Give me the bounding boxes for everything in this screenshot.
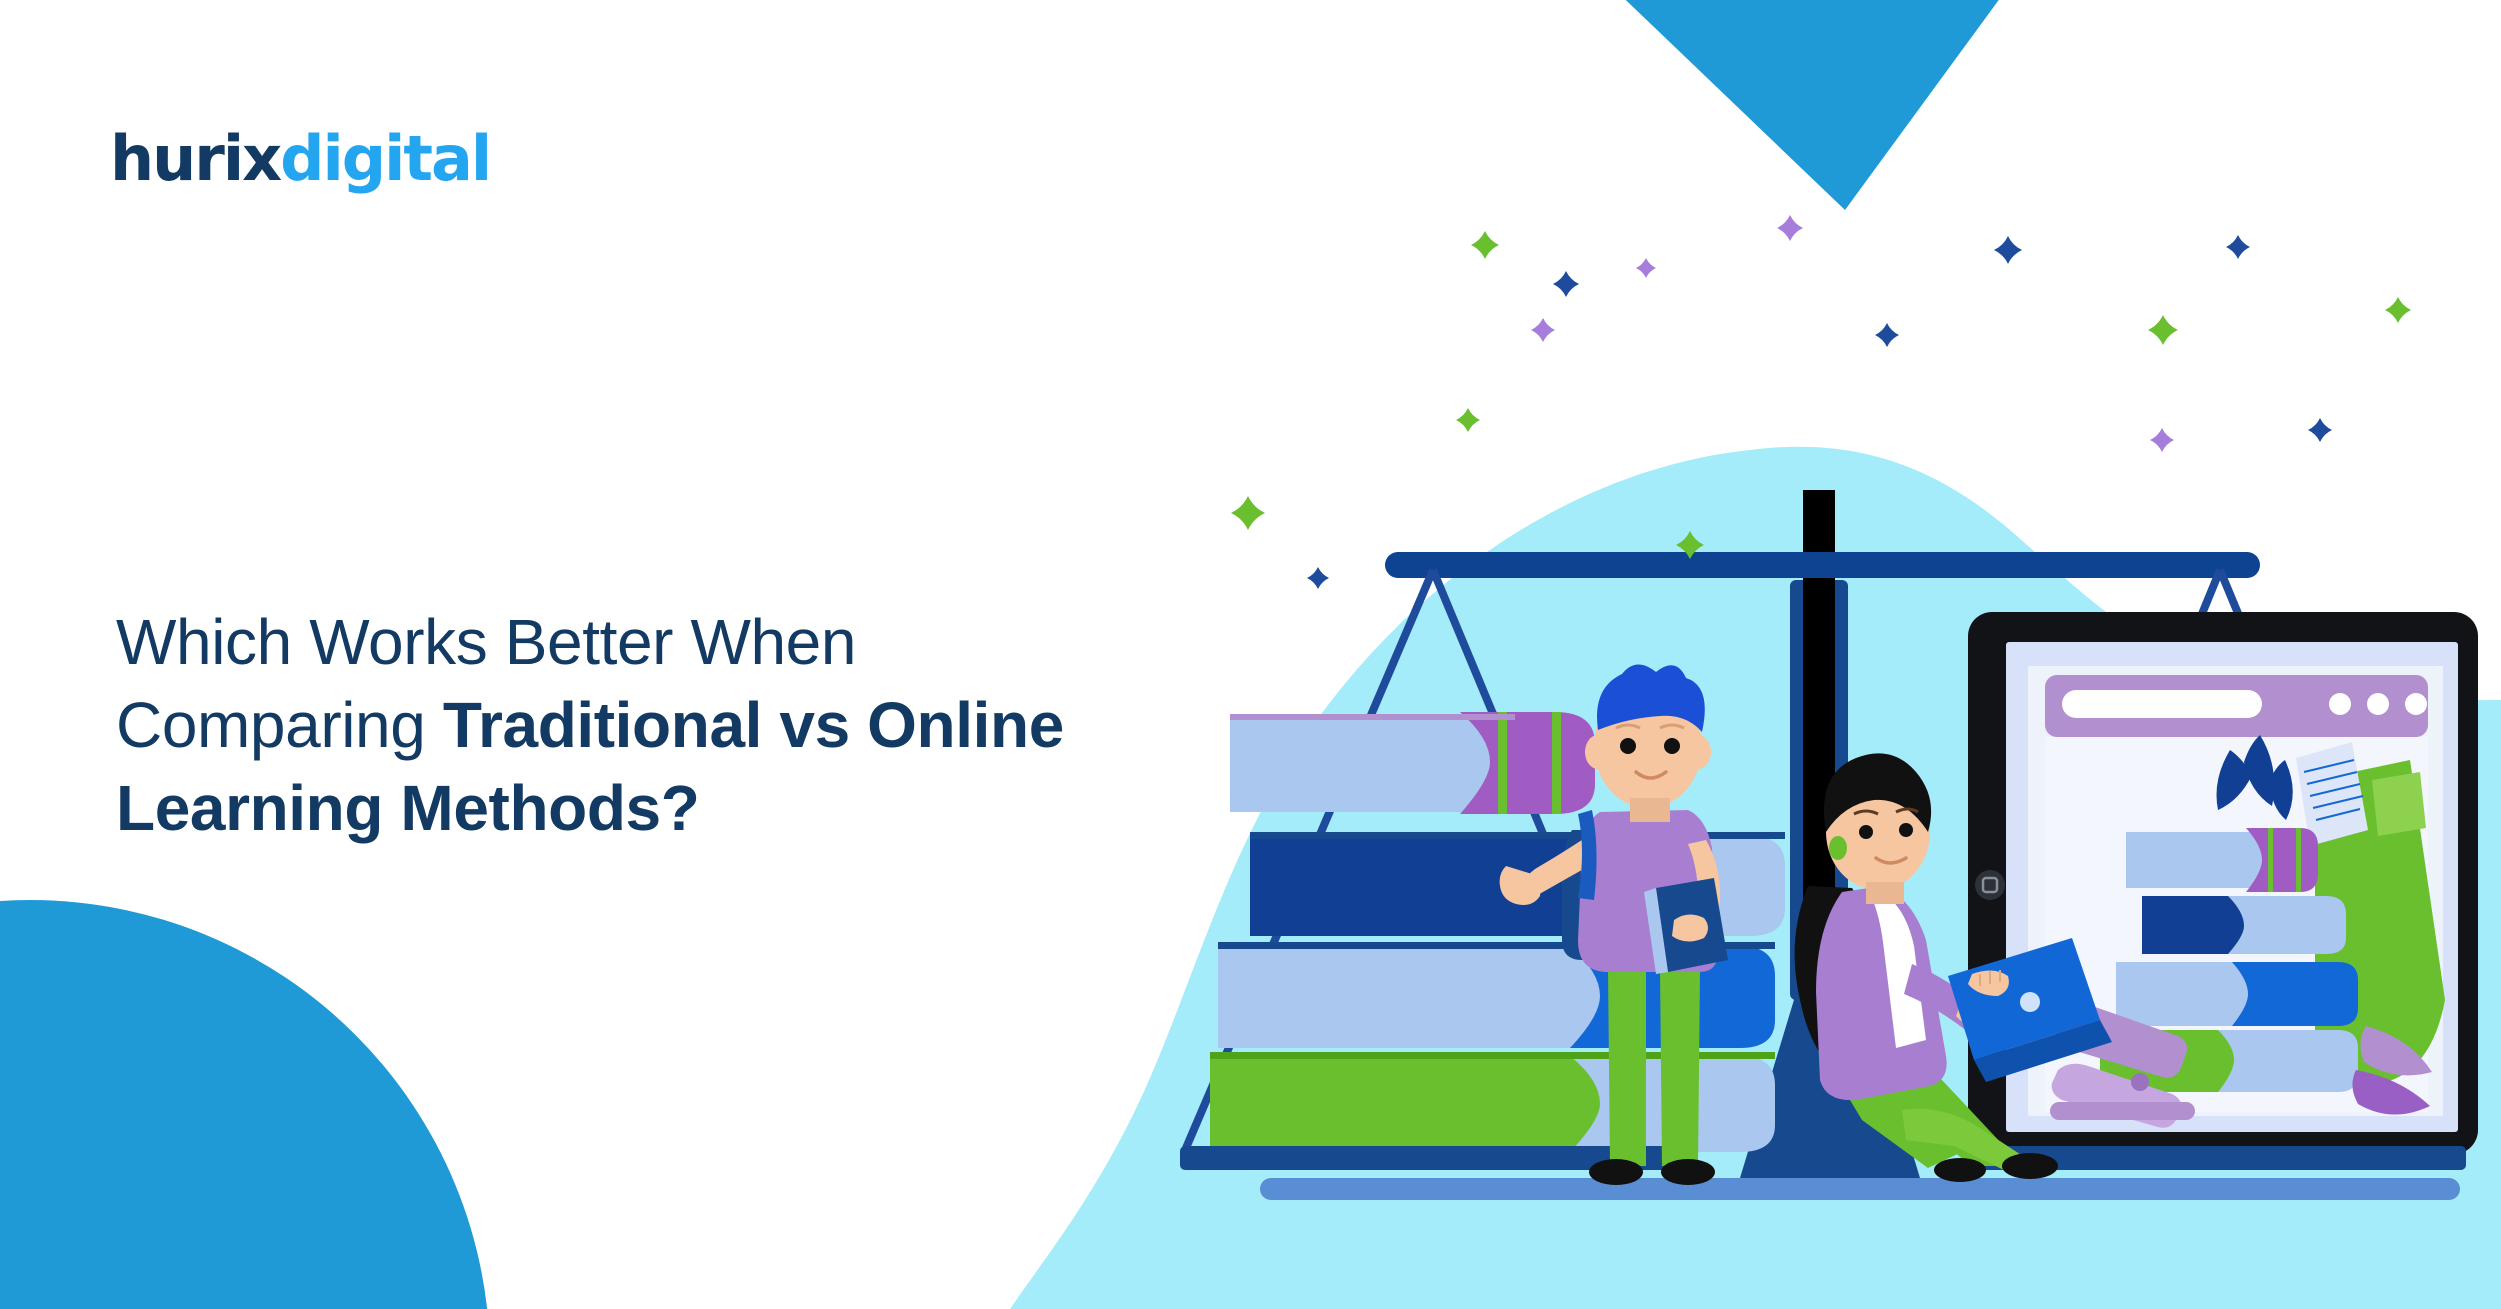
sparkle-green-icon — [1456, 408, 1480, 432]
sparkle-purple-icon — [1636, 258, 1656, 278]
sparkle-navy-icon — [1875, 323, 1899, 347]
sparkle-navy-icon — [2226, 235, 2250, 259]
sparkle-purple-icon — [1777, 215, 1803, 241]
sparkle-purple-icon — [2150, 428, 2174, 452]
sparkle-navy-icon — [1553, 271, 1579, 297]
sparkle-green-icon — [2148, 315, 2178, 345]
sparkle-green-icon — [1471, 231, 1499, 259]
sparkle-navy-icon — [1307, 567, 1329, 589]
sparkle-navy-icon — [2308, 418, 2332, 442]
poster-canvas: hurixdigital Which Works Better When Com… — [0, 0, 2501, 1309]
sparkle-green-icon — [1676, 531, 1704, 559]
sparkle-green-icon — [2385, 297, 2411, 323]
sparkle-navy-icon — [1994, 236, 2022, 264]
sparkle-decorations — [0, 0, 2501, 1309]
sparkle-green-icon — [1231, 496, 1265, 530]
sparkle-purple-icon — [1531, 318, 1555, 342]
